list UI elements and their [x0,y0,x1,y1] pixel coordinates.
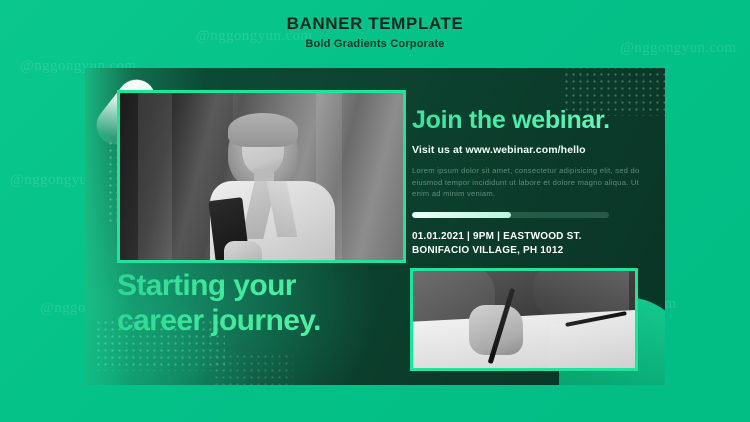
secondary-photo [413,271,635,368]
main-headline-line-2: career journey. [117,304,321,337]
subject-hair-front [228,113,298,147]
building-panel [138,93,172,260]
main-headline: Starting your career journey. [117,268,417,338]
banner-left-column: Starting your career journey. [117,268,417,338]
event-venue-location: BONIFACIO VILLAGE, PH 1012 [412,245,563,256]
secondary-photo-frame [410,268,638,371]
page-title: BANNER TEMPLATE [0,14,750,34]
body-paragraph: Lorem ipsum dolor sit amet, consectetur … [412,165,644,200]
paper-sheet-secondary [547,323,638,371]
event-date-time-street: 01.01.2021 | 9PM | EASTWOOD ST. [412,231,582,242]
banner-artboard: Join the webinar. Visit us at www.webina… [85,68,665,385]
visit-url-line[interactable]: Visit us at www.webinar.com/hello [412,144,644,156]
main-headline-line-1: Starting your [117,269,296,302]
progress-bar[interactable] [412,212,609,218]
main-photo [120,93,403,260]
main-photo-frame [117,90,406,263]
dot-grid-bottom-center [213,353,293,385]
banner-right-column: Join the webinar. Visit us at www.webina… [412,106,644,258]
page-subtitle: Bold Gradients Corporate [0,37,750,51]
subject-hand [224,241,262,263]
webinar-headline: Join the webinar. [412,106,644,134]
progress-bar-fill [412,212,511,218]
event-details: 01.01.2021 | 9PM | EASTWOOD ST. BONIFACI… [412,230,644,258]
header: BANNER TEMPLATE Bold Gradients Corporate [0,14,750,51]
